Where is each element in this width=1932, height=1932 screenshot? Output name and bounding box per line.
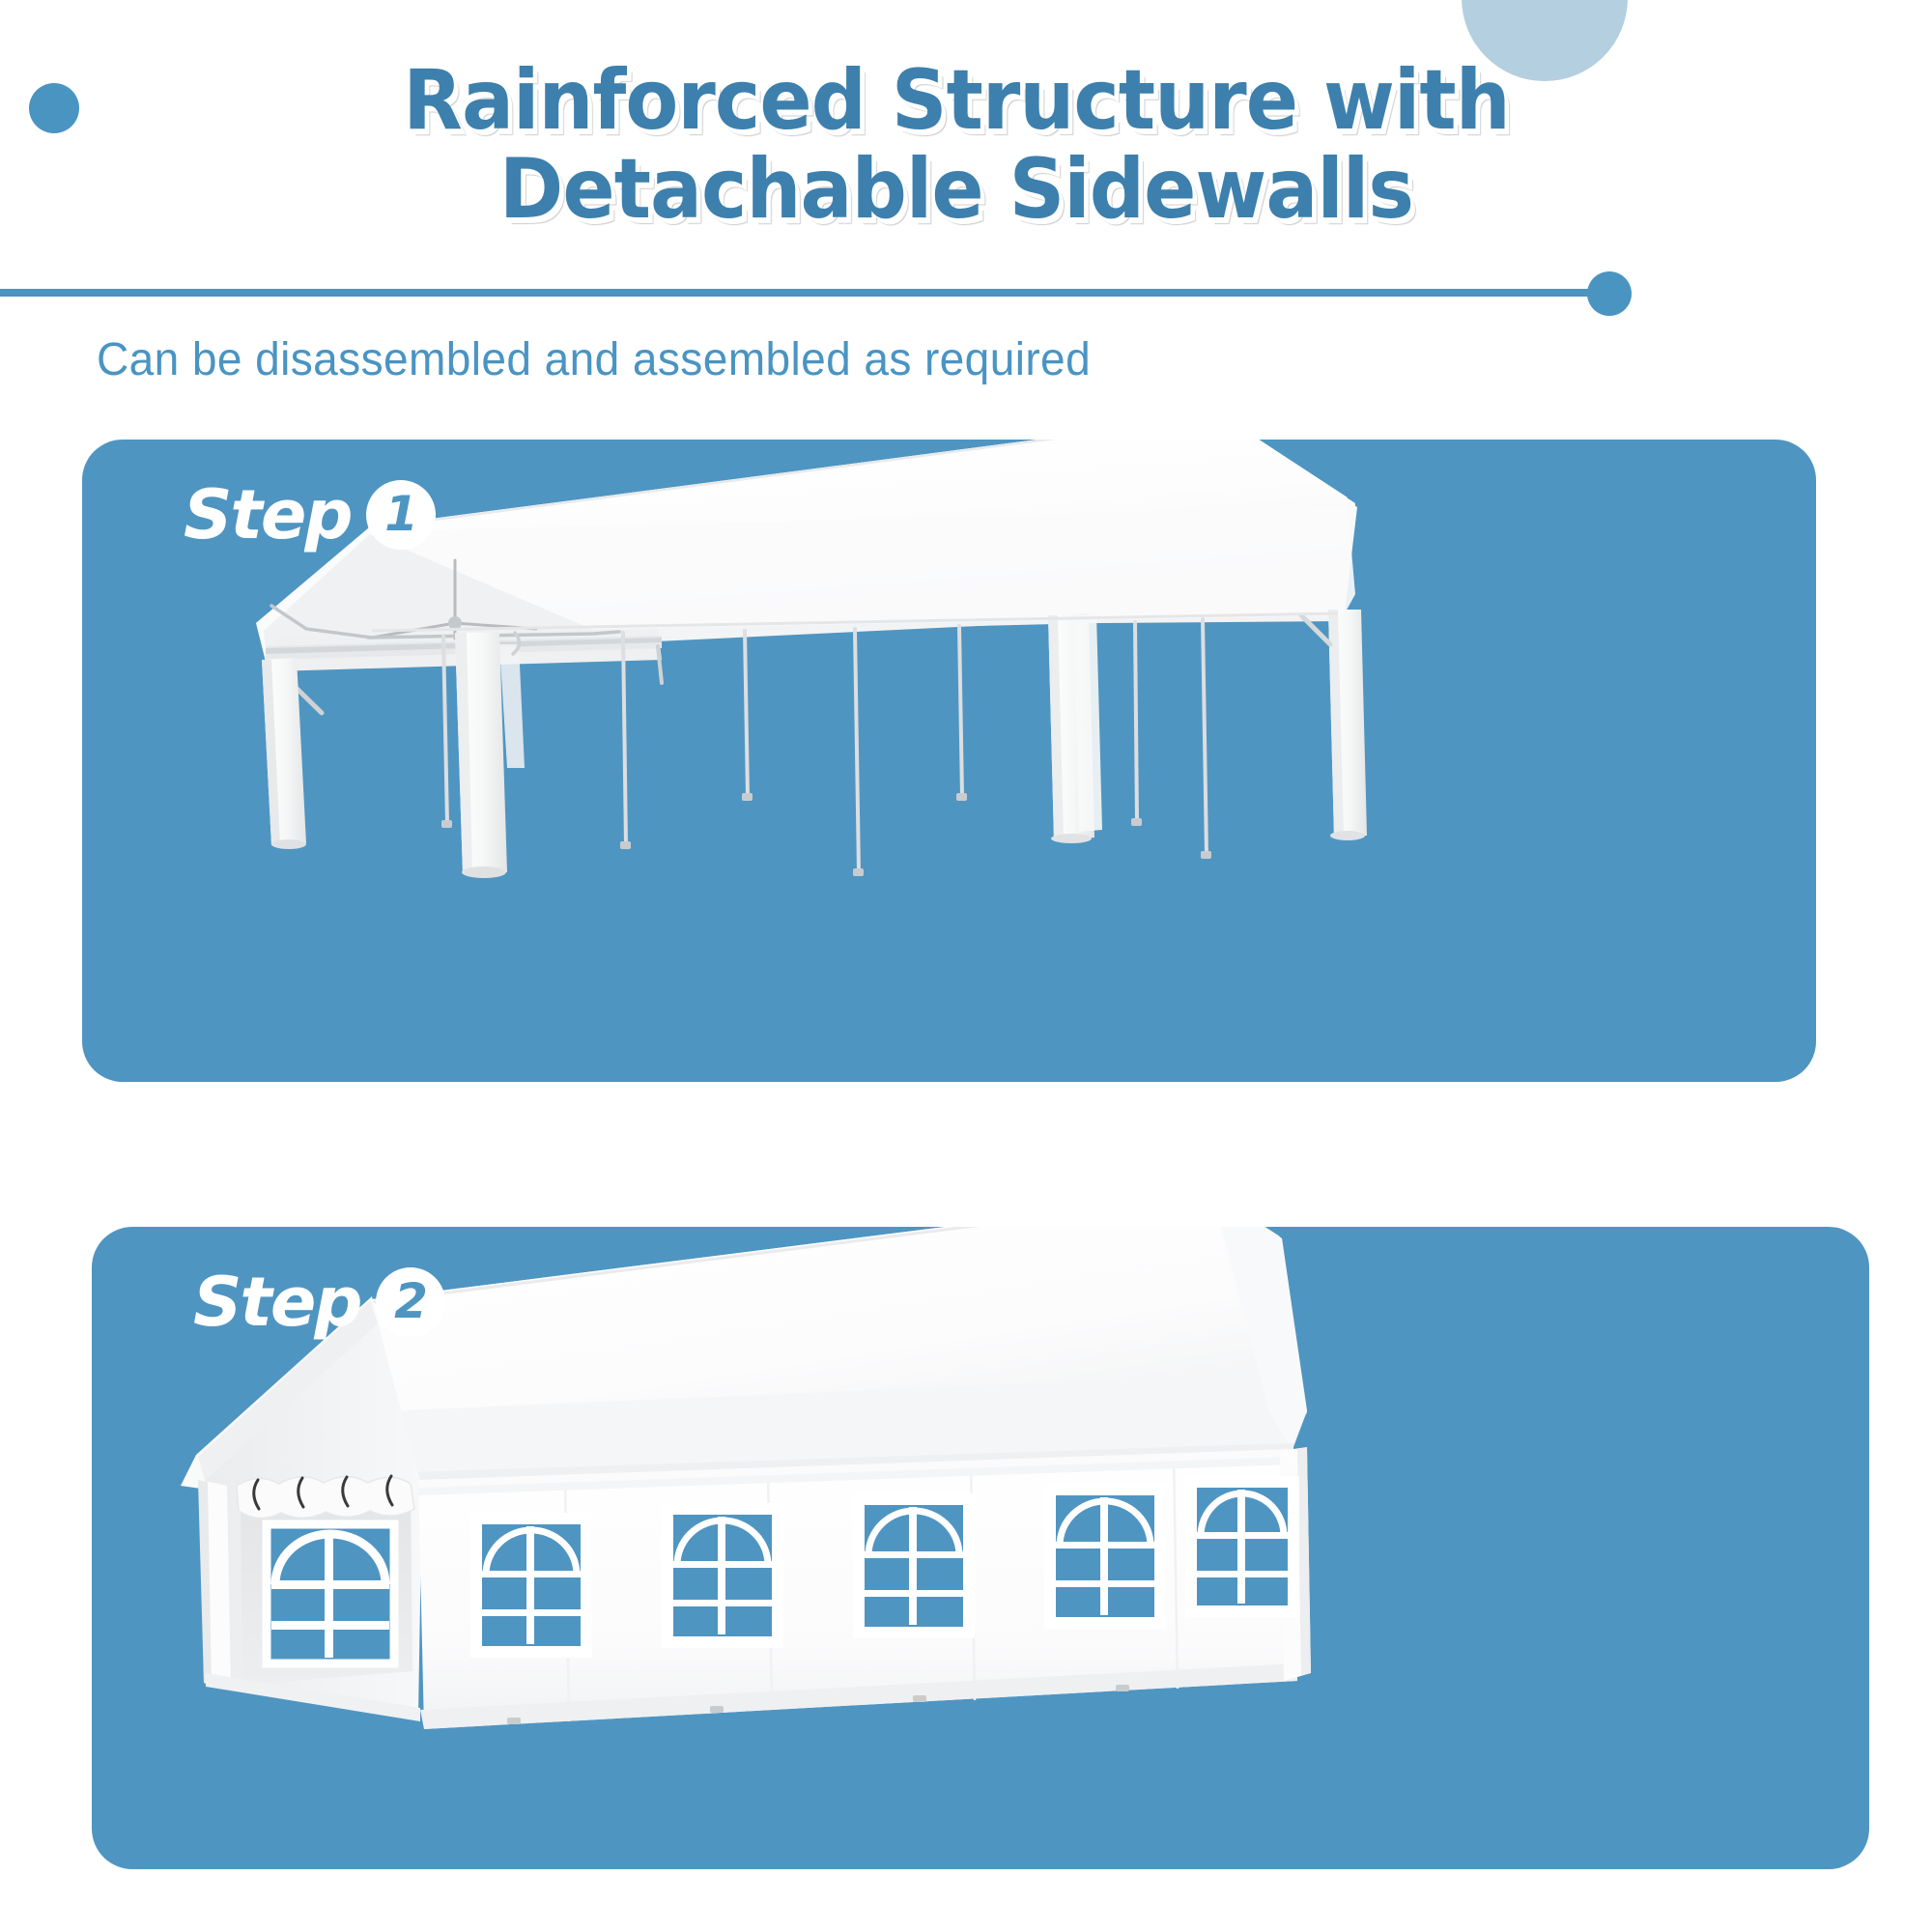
rolled-sidewall-bundle bbox=[237, 1476, 414, 1519]
page-title: Rainforced Structure with Detachable Sid… bbox=[292, 56, 1621, 234]
step-1-label: Step bbox=[184, 481, 351, 549]
step-2-panel: Step 2 bbox=[92, 1227, 1869, 1869]
step-2-badge: Step 2 bbox=[193, 1267, 445, 1337]
page-subtitle: Can be disassembled and assembled as req… bbox=[97, 333, 1091, 386]
step-1-badge: Step 1 bbox=[184, 480, 436, 550]
circle-dot-icon-right bbox=[1587, 271, 1632, 316]
page-title-line-2: Detachable Sidewalls bbox=[292, 145, 1621, 234]
step-1-panel: Step 1 bbox=[82, 440, 1816, 1082]
infographic-page: Rainforced Structure with Detachable Sid… bbox=[0, 0, 1932, 1932]
step-2-number: 2 bbox=[376, 1267, 445, 1337]
front-arched-window bbox=[267, 1524, 394, 1663]
circle-dot-icon-left bbox=[29, 83, 79, 133]
step-2-label: Step bbox=[193, 1268, 360, 1336]
header-divider-rule bbox=[0, 289, 1613, 297]
step-1-number: 1 bbox=[366, 480, 436, 550]
page-title-line-1: Rainforced Structure with bbox=[292, 56, 1621, 145]
